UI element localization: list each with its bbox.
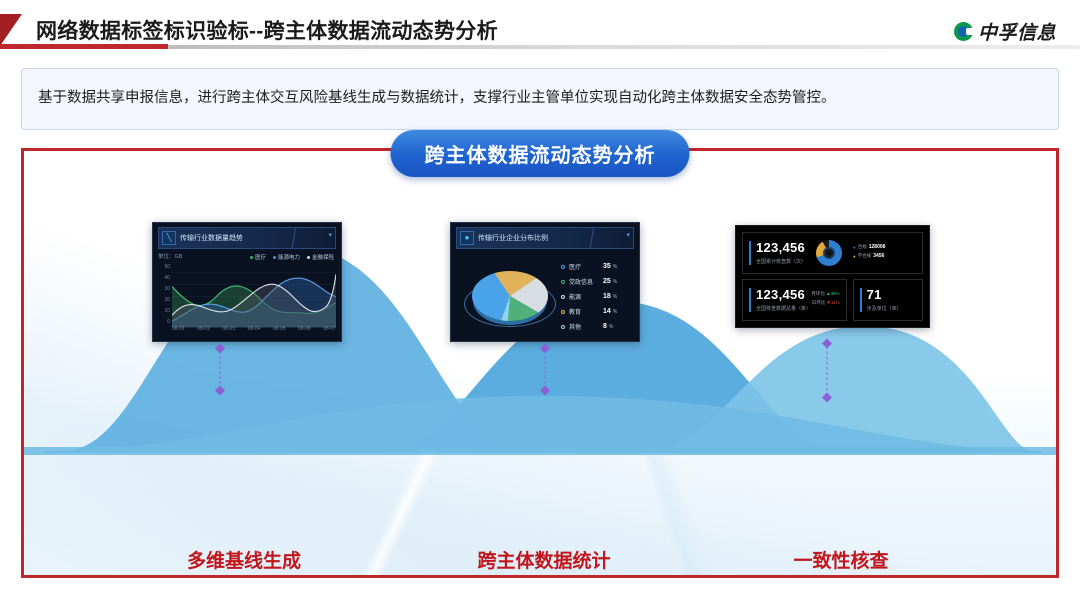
connector-1 <box>213 345 227 395</box>
x-tick: 08-05 <box>273 326 286 336</box>
kpi-deltas: 月环比 ▲38% 日环比 ▼11% <box>811 291 839 309</box>
legend-value: 14 <box>603 308 611 315</box>
legend-item: 能源电力 <box>273 253 300 261</box>
x-tick: 08-03 <box>222 326 235 336</box>
logo-text: 中孚信息 <box>978 18 1056 45</box>
chart-legend: 医疗 能源电力 金融保险 <box>158 252 336 262</box>
dashboard-title: 传输行业数据量趋势 <box>180 233 243 243</box>
delta-item: 日环比 ▼11% <box>811 300 839 306</box>
feature-title: 跨主体数据统计 <box>414 546 674 573</box>
legend-unit: % <box>613 264 617 270</box>
slide-header: 网络数据标签标识验标--跨主体数据流动态势分析 中孚信息 <box>0 0 1080 57</box>
legend-label: 党政信息 <box>569 277 603 286</box>
kpi-value: 71 <box>867 288 902 302</box>
x-axis: 08-01 08-02 08-03 08-04 08-05 08-06 08-0… <box>172 326 336 336</box>
header-gray-rule <box>168 45 1080 49</box>
y-axis: 50 40 30 20 10 0 <box>158 264 171 325</box>
chevron-down-icon[interactable]: ▾ <box>328 231 332 239</box>
legend-label: 合规 <box>858 244 867 250</box>
legend-item: 其他8% <box>561 319 634 334</box>
header-slash-decoration <box>585 228 599 248</box>
screenshot-pie-distribution-dashboard[interactable]: ● 传输行业企业分布比例 ▾ 医疗35% 党政信息25% 能源18% 教育14%… <box>450 222 640 342</box>
legend-unit: % <box>609 324 613 330</box>
y-tick: 40 <box>164 275 170 281</box>
legend-label: 不合规 <box>858 253 872 259</box>
unit-label: 单位：GB <box>158 252 182 260</box>
kpi-card-units: 71 涉及单位（家） <box>853 279 923 321</box>
x-tick: 08-01 <box>172 326 185 336</box>
legend-unit: % <box>613 279 617 285</box>
kpi-label: 全国核查数据总量（条） <box>756 305 811 312</box>
kpi-value: 123,456 <box>756 241 806 255</box>
connector-3 <box>820 340 834 402</box>
delta-value: 11% <box>831 300 840 305</box>
kpi-label: 涉及单位（家） <box>867 305 902 312</box>
pie-chart: 医疗35% 党政信息25% 能源18% 教育14% 其他8% <box>456 255 634 341</box>
intro-text: 基于数据共享申报信息，进行跨主体交互风险基线生成与数据统计，支撑行业主管单位实现… <box>38 88 836 110</box>
legend-label: 医疗 <box>255 253 266 261</box>
intro-box: 基于数据共享申报信息，进行跨主体交互风险基线生成与数据统计，支撑行业主管单位实现… <box>21 68 1059 130</box>
line-chart: 单位：GB 医疗 能源电力 金融保险 50 40 30 20 10 0 <box>158 252 336 337</box>
connector-line <box>220 351 221 389</box>
legend-label: 能源 <box>569 292 603 301</box>
pie-chart-icon: ● <box>460 231 474 245</box>
kpi-value-block: 123,456 全国累计核查数（次） <box>749 241 806 264</box>
kpi-card-volume: 123,456 全国核查数据总量（条） 月环比 ▲38% 日环比 ▼11% <box>742 279 847 321</box>
feature-column-2: 跨主体数据统计 对跨主体数据依据行业属性、区域、规模和重要级别进行归类统计。 <box>414 546 674 578</box>
legend-value: 8 <box>603 323 607 330</box>
header-slash-decoration <box>287 228 301 248</box>
legend-item: 教育14% <box>561 304 634 319</box>
page-title: 网络数据标签标识验标--跨主体数据流动态势分析 <box>36 15 498 45</box>
legend-item: 党政信息25% <box>561 274 634 289</box>
pie-graphic <box>456 255 561 341</box>
delta-value: 38% <box>831 291 840 296</box>
delta-label: 月环比 <box>811 291 825 296</box>
kpi-card-row: 123,456 全国核查数据总量（条） 月环比 ▲38% 日环比 ▼11% 71… <box>742 279 923 321</box>
connector-diamond-bottom <box>822 393 832 403</box>
legend-label: 教育 <box>569 307 603 316</box>
donut-gauge-icon <box>816 240 842 266</box>
legend-unit: % <box>613 294 617 300</box>
legend-value: 25 <box>603 278 611 285</box>
kpi-label: 全国累计核查数（次） <box>756 258 806 265</box>
dashboard-header: ╲ 传输行业数据量趋势 ▾ <box>158 227 336 249</box>
feature-title: 一致性核查 <box>696 546 986 573</box>
legend-item: 能源18% <box>561 289 634 304</box>
chart-plot-area <box>172 266 336 328</box>
x-tick: 08-04 <box>248 326 261 336</box>
legend-label: 医疗 <box>569 262 603 271</box>
line-chart-icon: ╲ <box>162 231 176 245</box>
connector-diamond-bottom <box>540 386 550 396</box>
kpi-ring-legend: ●合规128008 ●不合规3456 <box>853 244 885 262</box>
chevron-down-icon[interactable]: ▾ <box>626 231 630 239</box>
legend-item: ●不合规3456 <box>853 253 885 259</box>
dashboard-header: ● 传输行业企业分布比例 ▾ <box>456 227 634 249</box>
connector-line <box>827 346 828 396</box>
legend-label: 能源电力 <box>278 253 300 261</box>
delta-label: 日环比 <box>812 300 826 305</box>
legend-item: ●合规128008 <box>853 244 885 250</box>
delta-item: 月环比 ▲38% <box>811 291 839 297</box>
y-tick: 0 <box>167 319 170 325</box>
y-tick: 20 <box>164 297 170 303</box>
legend-item: 医疗 <box>250 253 266 261</box>
connector-2 <box>538 345 552 395</box>
connector-line <box>545 351 546 389</box>
feature-column-1: 多维基线生成 依据跨主体数据安全风险监管需求，生成数据量基线、跨主体目标基线、流… <box>99 546 389 578</box>
screenshot-line-trend-dashboard[interactable]: ╲ 传输行业数据量趋势 ▾ 单位：GB 医疗 能源电力 金融保险 50 40 3… <box>152 222 342 342</box>
kpi-value-block: 71 涉及单位（家） <box>860 288 902 311</box>
y-tick: 10 <box>164 308 170 314</box>
connector-diamond-bottom <box>215 386 225 396</box>
legend-value: 35 <box>603 263 611 270</box>
legend-unit: % <box>613 309 617 315</box>
feature-column-3: 一致性核查 对实际跨主体交互数据内容、数据类型、流量标签标识互相比对并生成核验报… <box>696 546 986 578</box>
x-tick: 08-02 <box>197 326 210 336</box>
header-flag-shape <box>0 14 22 46</box>
company-globe-icon <box>954 22 973 41</box>
legend-label: 其他 <box>569 322 603 331</box>
kpi-card-primary: 123,456 全国累计核查数（次） ●合规128008 ●不合规3456 <box>742 232 923 274</box>
dashboard-title: 传输行业企业分布比例 <box>478 233 548 243</box>
slide-root: 网络数据标签标识验标--跨主体数据流动态势分析 中孚信息 基于数据共享申报信息，… <box>0 0 1080 607</box>
y-tick: 50 <box>164 264 170 270</box>
y-tick: 30 <box>164 286 170 292</box>
section-banner: 跨主体数据流动态势分析 <box>391 130 690 177</box>
company-logo: 中孚信息 <box>954 18 1056 45</box>
x-tick: 08-07 <box>323 326 336 336</box>
kpi-value: 123,456 <box>756 288 811 302</box>
x-tick: 08-06 <box>298 326 311 336</box>
screenshot-kpi-summary-dashboard[interactable]: 123,456 全国累计核查数（次） ●合规128008 ●不合规3456 12… <box>735 225 930 328</box>
legend-value: 18 <box>603 293 611 300</box>
pie-disc <box>472 271 548 321</box>
kpi-value-block: 123,456 全国核查数据总量（条） <box>749 288 811 311</box>
feature-title: 多维基线生成 <box>99 546 389 573</box>
legend-value: 3456 <box>873 253 884 259</box>
legend-value: 128008 <box>869 244 886 250</box>
pie-legend: 医疗35% 党政信息25% 能源18% 教育14% 其他8% <box>561 255 634 341</box>
legend-label: 金融保险 <box>312 253 334 261</box>
legend-item: 医疗35% <box>561 259 634 274</box>
legend-item: 金融保险 <box>307 253 334 261</box>
